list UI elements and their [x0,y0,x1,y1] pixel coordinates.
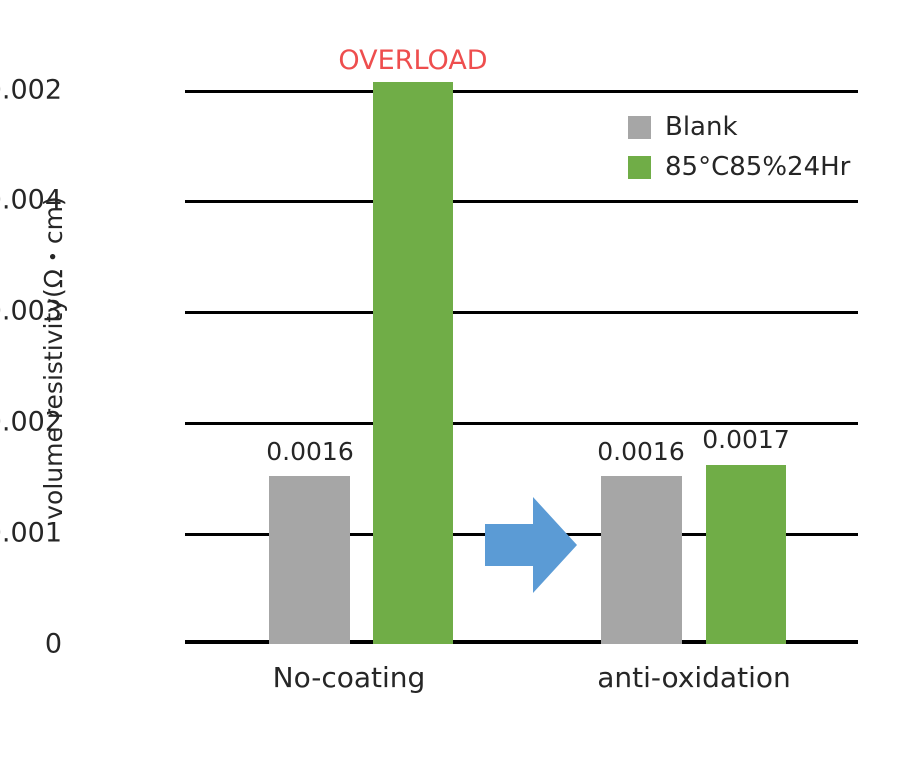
legend: Blank 85°C85%24Hr [628,110,850,190]
y-tick-label-4: 0.001 [0,518,62,549]
x-category-label-no-coating: No-coating [273,661,426,694]
y-tick-label-0: 0.002 [0,75,62,106]
bar-value-anti-oxidation-blank: 0.0016 [597,437,684,466]
improvement-arrow-icon [485,497,577,593]
y-tick-label-1: 0.004 [0,185,62,216]
legend-swatch-blank [628,116,651,139]
chart-container: volume resistivity(Ω・cm) 0.002 0.004 0.0… [0,0,920,760]
bar-anti-oxidation-blank [601,476,682,644]
legend-label-aged: 85°C85%24Hr [665,152,850,182]
bar-value-anti-oxidation-aged: 0.0017 [702,425,789,454]
bar-no-coating-blank [269,476,350,644]
legend-item-blank: Blank [628,110,850,144]
bar-value-no-coating-blank: 0.0016 [266,437,353,466]
legend-label-blank: Blank [665,112,738,142]
x-category-label-anti-oxidation: anti-oxidation [597,661,790,694]
y-tick-label-5: 0 [0,629,62,660]
overload-annotation: OVERLOAD [338,45,487,76]
legend-item-aged: 85°C85%24Hr [628,150,850,184]
gridline-2 [185,311,858,314]
legend-swatch-aged [628,156,651,179]
bar-anti-oxidation-aged [706,465,786,644]
bar-no-coating-aged [373,82,453,644]
y-tick-label-2: 0.003 [0,296,62,327]
gridline-1 [185,200,858,203]
gridline-0 [185,90,858,93]
y-tick-label-3: 0.002 [0,407,62,438]
